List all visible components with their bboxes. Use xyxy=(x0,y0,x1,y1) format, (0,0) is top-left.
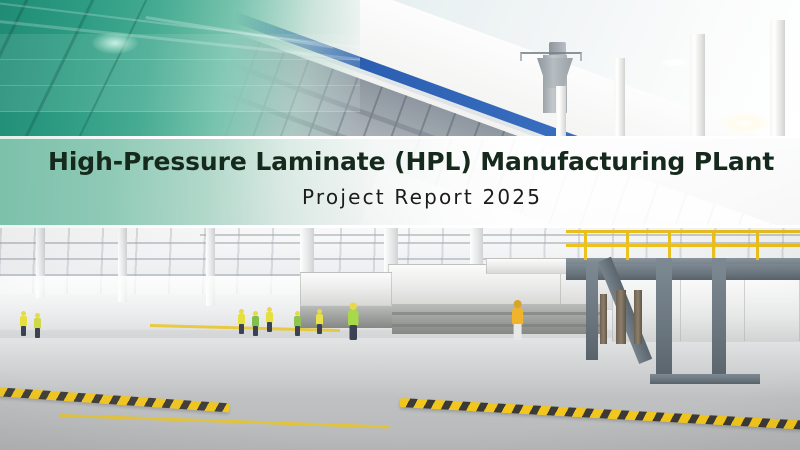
support-column xyxy=(690,34,705,136)
floor-reflection xyxy=(0,338,800,398)
roof-truss xyxy=(200,234,800,236)
ceiling-lamp-icon xyxy=(660,58,690,67)
machine-hood xyxy=(486,258,578,274)
background-pillar xyxy=(634,290,642,344)
ceiling-lamp-icon xyxy=(92,32,138,54)
mezzanine-column xyxy=(586,262,598,360)
support-column xyxy=(770,20,785,136)
mezzanine-handrail xyxy=(566,230,800,233)
page-subtitle: Project Report 2025 xyxy=(302,187,542,207)
mezzanine-post xyxy=(668,230,671,260)
page-title: High-Pressure Laminate (HPL) Manufacturi… xyxy=(48,149,774,174)
machine-rail xyxy=(392,324,606,327)
mezzanine-post xyxy=(626,230,629,260)
green-tinted-ceiling-overlay xyxy=(0,0,360,136)
background-pillar xyxy=(616,290,626,344)
mezzanine-column xyxy=(656,258,672,384)
mezzanine-handrail xyxy=(566,244,800,247)
mezzanine-post xyxy=(756,230,759,260)
equipment-cabinet xyxy=(744,274,800,342)
title-band: High-Pressure Laminate (HPL) Manufacturi… xyxy=(0,136,800,228)
silo-support-leg xyxy=(556,86,566,136)
report-cover: High-Pressure Laminate (HPL) Manufacturi… xyxy=(0,0,800,450)
mezzanine-post xyxy=(584,230,587,260)
background-pillar xyxy=(600,294,607,344)
machine-base-frame xyxy=(392,304,606,334)
ceiling-panel xyxy=(0,34,360,60)
machine-base-frame xyxy=(300,306,392,328)
mezzanine-column xyxy=(712,258,726,384)
mezzanine-footing xyxy=(650,374,760,384)
bottom-hero-image xyxy=(0,228,800,450)
ceiling-lamp-icon xyxy=(718,112,772,134)
band-top-divider xyxy=(0,136,800,139)
support-column xyxy=(614,58,625,136)
top-hero-image xyxy=(0,0,800,136)
machine-rail xyxy=(392,312,606,315)
mezzanine-post xyxy=(712,230,715,260)
ceiling-panel xyxy=(0,86,360,112)
production-machine xyxy=(300,272,392,306)
